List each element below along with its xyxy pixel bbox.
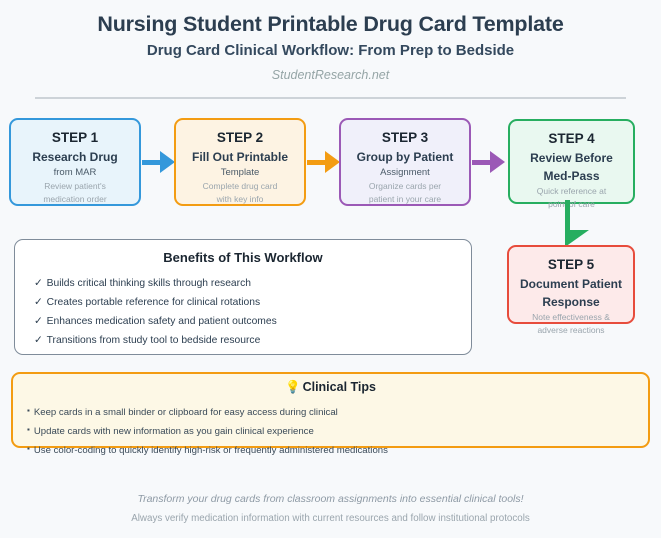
check-icon: ✓ xyxy=(34,278,43,289)
arrow-shaft xyxy=(142,160,162,165)
bullet-icon: ▪ xyxy=(27,425,30,434)
step-title: Fill Out Printable xyxy=(176,149,304,165)
arrow-head xyxy=(160,151,175,173)
workflow-step-3[interactable]: STEP 3 Group by Patient Assignment Organ… xyxy=(339,118,471,206)
step-number: STEP 4 xyxy=(510,130,633,148)
benefit-text: Transitions from study tool to bedside r… xyxy=(47,335,261,346)
workflow-step-2[interactable]: STEP 2 Fill Out Printable Template Compl… xyxy=(174,118,306,206)
list-item: ▪Use color-coding to quickly identify hi… xyxy=(27,440,648,459)
clinical-tips-panel: 💡Clinical Tips ▪Keep cards in a small bi… xyxy=(11,372,650,448)
step-detail-line2: medication order xyxy=(11,193,139,205)
benefit-text: Creates portable reference for clinical … xyxy=(47,297,260,308)
step-detail-line1: Review patient's xyxy=(11,180,139,192)
step-title-line2: Med-Pass xyxy=(510,168,633,184)
step-detail-line2: patient in your care xyxy=(341,193,469,205)
step-detail-line2: with key info xyxy=(176,193,304,205)
step-detail-line1: Quick reference at xyxy=(510,185,633,197)
tip-text: Use color-coding to quickly identify hig… xyxy=(34,445,388,456)
benefits-list: ✓Builds critical thinking skills through… xyxy=(15,274,471,350)
arrow-step2-to-step3-icon xyxy=(307,151,340,173)
footer-tagline: Transform your drug cards from classroom… xyxy=(0,493,661,505)
benefits-title: Benefits of This Workflow xyxy=(15,250,471,265)
footer-disclaimer: Always verify medication information wit… xyxy=(0,513,661,524)
step-detail-line2: adverse reactions xyxy=(509,324,633,336)
workflow-step-5[interactable]: STEP 5 Document Patient Response Note ef… xyxy=(507,245,635,324)
tip-text: Keep cards in a small binder or clipboar… xyxy=(34,407,338,418)
step-subtitle: Assignment xyxy=(341,166,469,179)
benefit-text: Builds critical thinking skills through … xyxy=(47,278,251,289)
bullet-icon: ▪ xyxy=(27,406,30,415)
workflow-step-1[interactable]: STEP 1 Research Drug from MAR Review pat… xyxy=(9,118,141,206)
check-icon: ✓ xyxy=(34,316,43,327)
header-divider xyxy=(35,97,626,99)
step-detail-line1: Organize cards per xyxy=(341,180,469,192)
tip-text: Update cards with new information as you… xyxy=(34,426,314,437)
benefit-text: Enhances medication safety and patient o… xyxy=(47,316,277,327)
step-number: STEP 3 xyxy=(341,129,469,147)
step-subtitle: Template xyxy=(176,166,304,179)
check-icon: ✓ xyxy=(34,297,43,308)
step-subtitle: from MAR xyxy=(11,166,139,179)
workflow-step-4[interactable]: STEP 4 Review Before Med-Pass Quick refe… xyxy=(508,119,635,204)
page-subtitle: Drug Card Clinical Workflow: From Prep t… xyxy=(0,42,661,59)
step-title-line1: Document Patient xyxy=(509,276,633,292)
step-number: STEP 2 xyxy=(176,129,304,147)
step-title-line2: Response xyxy=(509,294,633,310)
arrow-step3-to-step4-icon xyxy=(472,151,509,173)
step-title-line1: Review Before xyxy=(510,150,633,166)
step-number: STEP 1 xyxy=(11,129,139,147)
list-item: ✓Transitions from study tool to bedside … xyxy=(34,331,471,350)
arrow-head xyxy=(490,151,505,173)
tips-list: ▪Keep cards in a small binder or clipboa… xyxy=(13,402,648,459)
arrow-head xyxy=(325,151,340,173)
list-item: ▪Keep cards in a small binder or clipboa… xyxy=(27,402,648,421)
page-title: Nursing Student Printable Drug Card Temp… xyxy=(0,12,661,37)
step-number: STEP 5 xyxy=(509,256,633,274)
step-detail-line1: Note effectiveness & xyxy=(509,311,633,323)
arrow-shaft xyxy=(307,160,327,165)
bullet-icon: ▪ xyxy=(27,444,30,453)
benefits-panel: Benefits of This Workflow ✓Builds critic… xyxy=(14,239,472,355)
list-item: ✓Creates portable reference for clinical… xyxy=(34,293,471,312)
step-title: Group by Patient xyxy=(341,149,469,165)
arrow-step4-to-step5-icon xyxy=(565,200,589,248)
step-detail-line1: Complete drug card xyxy=(176,180,304,192)
infographic-page: Nursing Student Printable Drug Card Temp… xyxy=(0,0,661,538)
arrow-step1-to-step2-icon xyxy=(142,151,175,173)
tips-title: Clinical Tips xyxy=(303,380,376,394)
list-item: ▪Update cards with new information as yo… xyxy=(27,421,648,440)
tips-title-row: 💡Clinical Tips xyxy=(13,380,648,395)
arrow-shaft xyxy=(472,160,492,165)
list-item: ✓Builds critical thinking skills through… xyxy=(34,274,471,293)
lightbulb-icon: 💡 xyxy=(285,380,301,394)
list-item: ✓Enhances medication safety and patient … xyxy=(34,312,471,331)
step-title: Research Drug xyxy=(11,149,139,165)
check-icon: ✓ xyxy=(34,335,43,346)
source-attribution: StudentResearch.net xyxy=(0,68,661,82)
